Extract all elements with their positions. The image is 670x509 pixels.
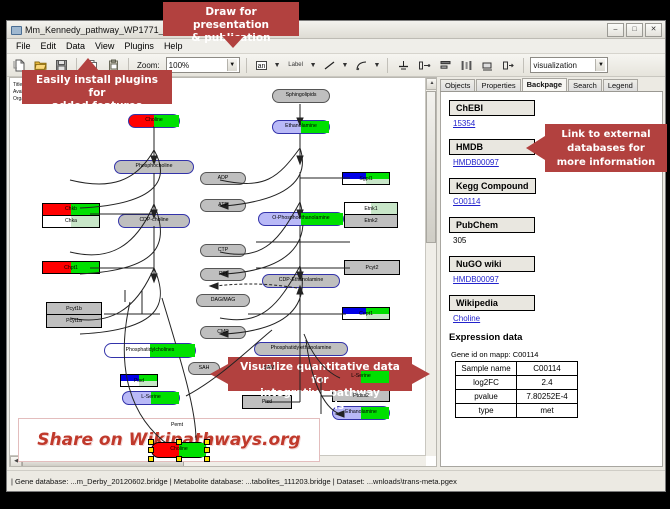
- callout-draw: Draw for presentation & publication: [163, 2, 299, 36]
- distribute-icon[interactable]: [457, 56, 475, 74]
- cell-key: type: [456, 404, 517, 418]
- menu-item-plugins[interactable]: Plugins: [119, 41, 159, 51]
- gene-label: Pcyt1a: [66, 318, 82, 324]
- menu-item-edit[interactable]: Edit: [36, 41, 62, 51]
- link-nugo-wiki[interactable]: HMDB00097: [453, 275, 654, 284]
- maximize-button[interactable]: □: [626, 23, 643, 37]
- node-label: L-Serine: [351, 374, 371, 379]
- tab-objects[interactable]: Objects: [440, 79, 475, 91]
- value-pubchem: 305: [453, 236, 654, 245]
- cell-key: log2FC: [456, 376, 517, 390]
- menu-bar: File Edit Data View Plugins Help: [7, 39, 665, 54]
- node-label: CDP-Ethanolamine: [279, 278, 323, 283]
- zoom-combobox[interactable]: 100% ▼: [166, 57, 240, 73]
- gene-label: Chkb: [65, 206, 77, 212]
- node-label: Phosphatidylcholines: [126, 348, 175, 353]
- expression-table: Sample name C00114 log2FC 2.4 pvalue 7.8…: [455, 361, 578, 418]
- menu-item-view[interactable]: View: [90, 41, 119, 51]
- node-label: Ethanolamine: [345, 410, 377, 415]
- cell-value: C00114: [517, 362, 578, 376]
- pathway-drawing[interactable]: Title: Availa Organi: [10, 78, 436, 467]
- cell-value: 2.4: [517, 376, 578, 390]
- gene-label: Cept1: [359, 311, 373, 317]
- app-icon: [10, 24, 21, 35]
- callout-links-line2: databases for: [553, 142, 659, 156]
- callout-plugins-pointer: [77, 58, 99, 71]
- resize-handle-nw[interactable]: [148, 439, 154, 445]
- callout-draw-line1: Draw for presentation: [171, 6, 291, 32]
- resize-handle-sw[interactable]: [148, 456, 154, 462]
- callout-links-line3: more information: [553, 156, 659, 170]
- table-row: log2FC 2.4: [456, 376, 578, 390]
- selected-node-choline[interactable]: Choline: [151, 442, 207, 458]
- table-row: type met: [456, 404, 578, 418]
- status-bar: | Gene database: ...m_Derby_20120602.bri…: [7, 470, 665, 491]
- node-label: CDP-choline: [139, 218, 168, 223]
- node-label: SAM: [263, 366, 274, 371]
- node-label: Sphingolipids: [286, 93, 317, 98]
- resize-handle-s[interactable]: [176, 456, 182, 462]
- text-label-icon[interactable]: an: [253, 56, 271, 74]
- expression-data-heading: Expression data: [449, 332, 654, 343]
- order-icon[interactable]: [499, 56, 517, 74]
- node-label: O-Phosphoethanolamine: [272, 216, 329, 221]
- menu-item-file[interactable]: File: [11, 41, 36, 51]
- link-kegg[interactable]: C00114: [453, 197, 654, 206]
- pathvisio-window: Mm_Kennedy_pathway_WP1771_45176.gpml – □…: [6, 20, 666, 492]
- gene-id-line: Gene id on mapp: C00114: [451, 350, 654, 359]
- gene-label: Pisd: [134, 378, 144, 384]
- link-wikipedia[interactable]: Choline: [453, 314, 654, 323]
- chevron-down-icon[interactable]: ▼: [227, 59, 237, 71]
- gene-label: Pisd: [262, 399, 272, 405]
- arc-icon[interactable]: [352, 56, 370, 74]
- resize-handle-w[interactable]: [148, 447, 154, 453]
- table-row: Sample name C00114: [456, 362, 578, 376]
- cell-value: 7.80252E-4: [517, 390, 578, 404]
- menu-item-data[interactable]: Data: [61, 41, 90, 51]
- node-label: Choline: [170, 447, 188, 452]
- align-icon[interactable]: [436, 56, 454, 74]
- close-button[interactable]: ✕: [645, 23, 662, 37]
- status-text: | Gene database: ...m_Derby_20120602.bri…: [11, 477, 457, 486]
- zoom-value: 100%: [169, 61, 189, 70]
- tab-properties[interactable]: Properties: [476, 79, 520, 91]
- group-icon[interactable]: [415, 56, 433, 74]
- cell-value: met: [517, 404, 578, 418]
- anchor-icon[interactable]: [394, 56, 412, 74]
- node-label: Phosphocholine: [136, 164, 173, 169]
- toolbar-separator: [523, 58, 524, 73]
- svg-text:an: an: [258, 63, 266, 70]
- sidebar-tabs: Objects Properties Backpage Search Legen…: [440, 77, 663, 92]
- node-label: PPi: [219, 272, 227, 277]
- gene-label: Pcyt1b: [66, 306, 82, 312]
- chevron-down-icon[interactable]: ▼: [373, 62, 380, 69]
- section-header-nugo-wiki: NuGO wiki: [449, 256, 535, 272]
- window-titlebar: Mm_Kennedy_pathway_WP1771_45176.gpml – □…: [7, 21, 665, 39]
- toolbar-separator: [246, 58, 247, 73]
- gene-label: Pcyt2: [366, 265, 379, 271]
- node-label: ATP: [218, 203, 228, 208]
- node-label: CMP: [217, 330, 229, 335]
- section-header-hmdb: HMDB: [449, 139, 535, 155]
- callout-links-pointer: [526, 136, 545, 160]
- section-header-chebi: ChEBI: [449, 100, 535, 116]
- callout-links-line1: Link to external: [553, 128, 659, 142]
- screenshot-root: Mm_Kennedy_pathway_WP1771_45176.gpml – □…: [0, 0, 670, 509]
- section-header-kegg: Kegg Compound: [449, 178, 536, 194]
- resize-handle-se[interactable]: [204, 456, 210, 462]
- pathway-canvas[interactable]: Title: Availa Organi: [9, 77, 437, 467]
- minimize-button[interactable]: –: [607, 23, 624, 37]
- gene-label: Sgpl1: [359, 176, 372, 182]
- resize-handle-e[interactable]: [204, 447, 210, 453]
- cell-key: pvalue: [456, 390, 517, 404]
- stack-icon[interactable]: [478, 56, 496, 74]
- node-label: CTP: [218, 248, 228, 253]
- node-label: ADP: [218, 176, 229, 181]
- chevron-down-icon[interactable]: ▼: [310, 62, 317, 69]
- chevron-down-icon[interactable]: ▼: [274, 62, 281, 69]
- tab-search[interactable]: Search: [568, 79, 602, 91]
- gene-label: Chka: [65, 218, 77, 224]
- table-row: pvalue 7.80252E-4: [456, 390, 578, 404]
- line-icon[interactable]: [321, 56, 339, 74]
- node-label: Phosphatidylethanolamine: [271, 346, 332, 351]
- section-header-pubchem: PubChem: [449, 217, 535, 233]
- tab-backpage[interactable]: Backpage: [522, 78, 567, 91]
- label-button[interactable]: Label: [285, 56, 307, 74]
- toolbar-separator: [387, 58, 388, 73]
- gene-label: Ptdss2: [353, 393, 369, 399]
- resize-handle-ne[interactable]: [204, 439, 210, 445]
- visualization-combobox[interactable]: visualization ▼: [530, 57, 608, 73]
- gene-label: Chpt1: [64, 265, 78, 271]
- resize-handle-n[interactable]: [176, 439, 182, 445]
- chevron-down-icon[interactable]: ▼: [595, 59, 605, 71]
- node-label: SAH: [199, 366, 210, 371]
- chevron-down-icon[interactable]: ▼: [342, 62, 349, 69]
- node-label: Choline: [145, 118, 163, 123]
- gene-label: Etnk1: [364, 206, 377, 212]
- node-label: Ethanolamine: [285, 124, 317, 129]
- window-buttons: – □ ✕: [607, 23, 662, 37]
- node-label: L-Serine: [141, 395, 161, 400]
- zoom-label: Zoom:: [137, 61, 160, 70]
- gene-label: Pemt: [171, 422, 183, 428]
- visualization-value: visualization: [533, 61, 577, 70]
- tab-legend[interactable]: Legend: [603, 79, 638, 91]
- gene-label: Etnk2: [364, 218, 377, 224]
- cell-key: Sample name: [456, 362, 517, 376]
- section-header-wikipedia: Wikipedia: [449, 295, 535, 311]
- callout-links: Link to external databases for more info…: [545, 124, 667, 172]
- callout-draw-pointer: [222, 36, 244, 48]
- node-label: DAG/MAG: [211, 298, 236, 303]
